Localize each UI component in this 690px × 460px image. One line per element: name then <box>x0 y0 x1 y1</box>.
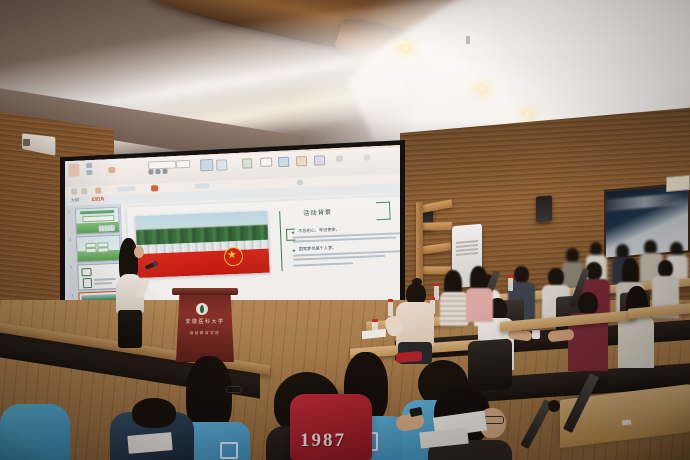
wall-speaker-black-2 <box>536 195 552 222</box>
thumb-number: 1 <box>68 210 70 214</box>
heading-bracket-left-icon <box>286 229 295 241</box>
water-bottle <box>508 278 513 291</box>
audience-torso-striped <box>440 292 468 326</box>
slide-bullet-1: 不忘初心、牢记使命。 <box>298 227 340 235</box>
audience-head <box>578 292 598 315</box>
copy-icon[interactable] <box>86 170 92 175</box>
bullet-marker-icon <box>292 249 295 252</box>
lectern-top <box>172 288 238 295</box>
new-slide-icon[interactable] <box>200 159 213 172</box>
view-tab-slides[interactable]: 幻灯片 <box>91 197 104 204</box>
lecture-hall-photo: WPS 演示 开始 插入 设计 切换 动画 幻灯片放映 <box>0 0 690 460</box>
slide-bullet-2: 国家梦也是个人梦。 <box>299 245 337 253</box>
bottle-cap-icon <box>508 275 513 278</box>
eraser-item <box>622 420 631 426</box>
color-fill-icon[interactable] <box>151 185 158 191</box>
glasses-icon <box>226 386 242 393</box>
picture-icon[interactable] <box>278 157 289 167</box>
rail-joint <box>548 400 560 412</box>
thumb-number: 2 <box>69 238 71 242</box>
shape-icon[interactable] <box>242 158 252 168</box>
presenter-face <box>134 246 144 258</box>
search-icon[interactable] <box>297 179 303 185</box>
brush-icon[interactable] <box>95 187 101 193</box>
textbox-icon[interactable] <box>260 157 272 166</box>
microphone-head-icon <box>153 261 158 266</box>
slide-heading: 活动背景 <box>303 207 332 217</box>
slide-thumbnail-1[interactable] <box>75 207 120 235</box>
ceiling-downlight-icon <box>474 84 490 93</box>
seat-back-foreground <box>468 338 512 391</box>
font-size-box-icon[interactable] <box>176 160 190 169</box>
cut-icon[interactable] <box>86 163 92 168</box>
wall-notice-sign <box>666 175 690 192</box>
italic-icon[interactable] <box>155 169 160 174</box>
redo-icon[interactable] <box>81 188 87 194</box>
paper-sheet <box>127 432 172 454</box>
underline-icon[interactable] <box>162 169 167 174</box>
slide-accent-divider <box>279 211 283 271</box>
chart-icon[interactable] <box>314 155 325 165</box>
student-shoulder-cyan <box>0 404 70 460</box>
paste-icon[interactable] <box>68 163 80 176</box>
vest-logo <box>220 442 238 459</box>
paper-cup-icon <box>532 330 540 339</box>
thumb-number: 4 <box>71 294 73 298</box>
align-icon[interactable] <box>117 186 135 192</box>
undo-icon[interactable] <box>71 188 77 194</box>
help-icon[interactable] <box>364 154 370 160</box>
bottle-cap-icon <box>372 319 378 322</box>
audience-torso-pink <box>466 288 493 322</box>
format-painter-icon[interactable] <box>108 167 115 173</box>
arrange-icon[interactable] <box>195 183 209 189</box>
bullet-text-line <box>293 262 353 266</box>
more-tools-icon[interactable] <box>336 156 343 162</box>
ceiling-sprinkler-icon <box>466 36 470 44</box>
audience-row-left <box>440 256 500 316</box>
lectern <box>176 292 234 362</box>
student-head <box>132 398 176 428</box>
heading-bracket-icon <box>376 202 391 221</box>
layout-icon[interactable] <box>216 159 227 170</box>
emblem-leaf-icon <box>200 305 204 313</box>
thumb-number: 3 <box>70 266 72 270</box>
table-icon[interactable] <box>296 156 307 166</box>
view-tab-outline[interactable]: 大纲 <box>70 198 79 204</box>
speaker-grille-icon <box>23 139 30 146</box>
rail-joint <box>596 378 609 391</box>
lectern-subtitle: 继续教育学院 <box>182 331 228 336</box>
bold-icon[interactable] <box>148 169 153 174</box>
lectern-organization-name: 安徽医科大学 <box>182 318 228 325</box>
ceiling-downlight-icon <box>397 44 414 53</box>
backpack-label-text: 1987 <box>300 430 346 452</box>
audience-torso <box>618 316 654 368</box>
presenter-skirt <box>118 310 142 348</box>
presenter-speaker <box>108 238 156 358</box>
glasses-icon <box>484 416 504 424</box>
ceiling-downlight-icon <box>520 110 535 118</box>
